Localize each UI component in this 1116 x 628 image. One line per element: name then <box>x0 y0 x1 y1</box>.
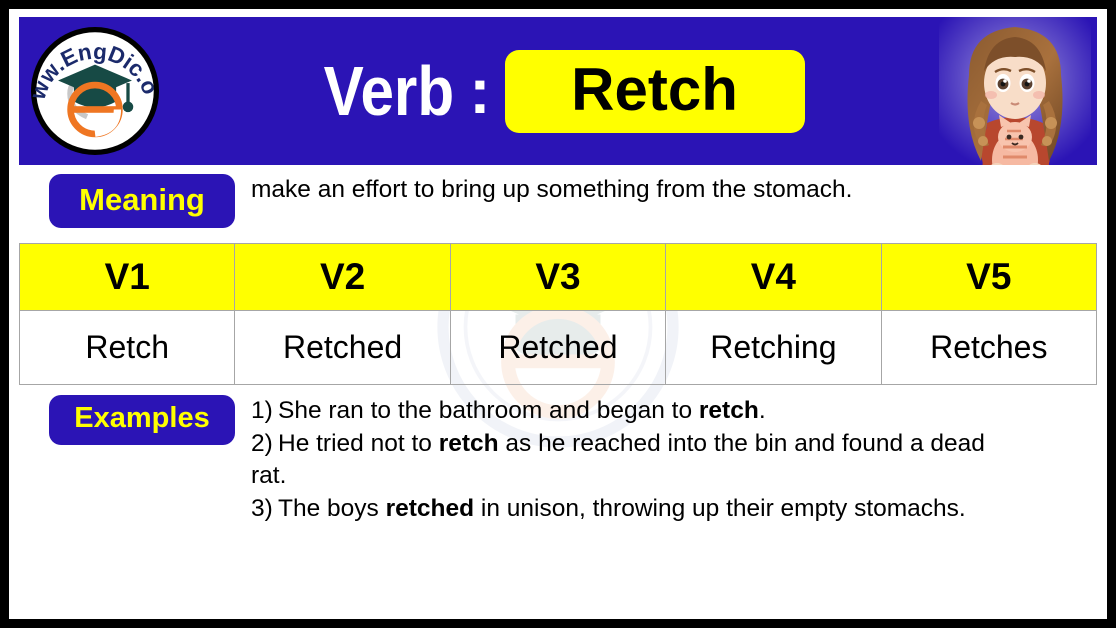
headword-text: Retch <box>571 56 738 123</box>
card-inner: www.EngDic.org www.EngDic.org <box>9 9 1107 619</box>
meaning-badge: Meaning <box>49 174 235 228</box>
verb-form-v2: Retched <box>235 311 450 385</box>
engdic-logo-icon: www.EngDic.org <box>29 25 161 157</box>
examples-list: 1)She ran to the bathroom and began to r… <box>235 395 1097 525</box>
example-item: 1)She ran to the bathroom and began to r… <box>251 395 1007 428</box>
column-header-v1: V1 <box>20 244 235 311</box>
example-number: 1) <box>251 395 278 428</box>
example-keyword: retch <box>699 397 759 424</box>
verb-forms-table: V1 V2 V3 V4 V5 Retch Retched Retched Ret… <box>19 243 1097 385</box>
table-header-row: V1 V2 V3 V4 V5 <box>20 244 1097 311</box>
verb-form-v1: Retch <box>20 311 235 385</box>
verb-form-v5: Retches <box>881 311 1096 385</box>
title-separator: : <box>469 59 490 123</box>
site-logo[interactable]: www.EngDic.org <box>19 21 171 161</box>
meaning-text: make an effort to bring up something fro… <box>235 174 1097 207</box>
header-title-row: Verb : Retch <box>171 50 1097 133</box>
column-header-v4: V4 <box>666 244 881 311</box>
table-row: Retch Retched Retched Retching Retches <box>20 311 1097 385</box>
example-keyword: retch <box>439 430 499 457</box>
example-item: 3)The boys retched in unison, throwing u… <box>251 493 1007 526</box>
headword-chip: Retch <box>505 50 805 133</box>
column-header-v2: V2 <box>235 244 450 311</box>
example-number: 2) <box>251 428 278 461</box>
verb-form-v3: Retched <box>450 311 665 385</box>
card-header: www.EngDic.org Verb : Retch <box>19 17 1097 165</box>
examples-row: Examples 1)She ran to the bathroom and b… <box>19 385 1097 525</box>
column-header-v5: V5 <box>881 244 1096 311</box>
example-number: 3) <box>251 493 278 526</box>
verb-forms-card: www.EngDic.org www.EngDic.org <box>0 0 1116 628</box>
column-header-v3: V3 <box>450 244 665 311</box>
example-item: 2)He tried not to retch as he reached in… <box>251 428 1007 493</box>
page-title: Verb <box>324 56 455 126</box>
verb-form-v4: Retching <box>666 311 881 385</box>
meaning-row: Meaning make an effort to bring up somet… <box>19 165 1097 243</box>
example-keyword: retched <box>386 495 475 522</box>
examples-badge: Examples <box>49 395 235 445</box>
